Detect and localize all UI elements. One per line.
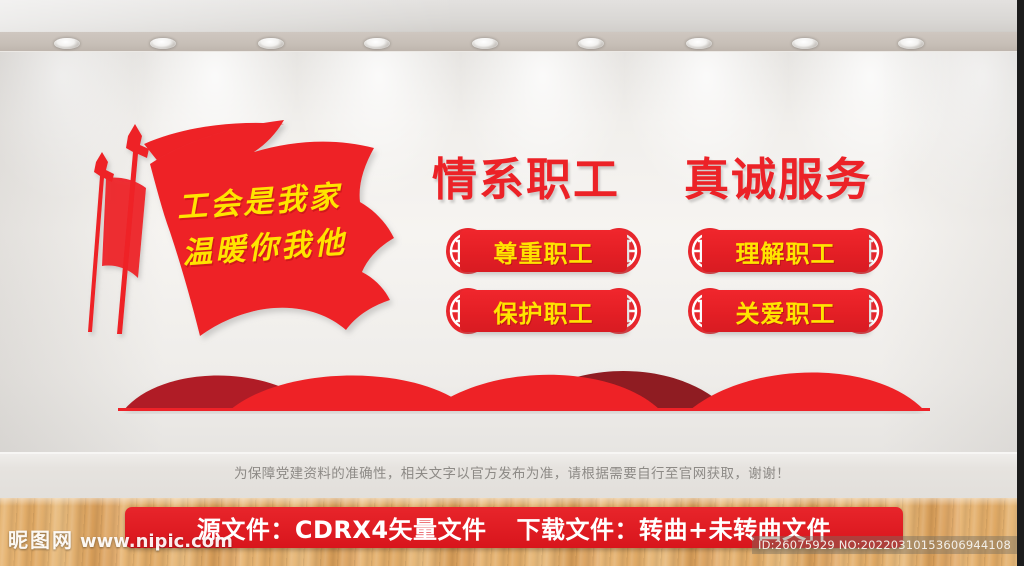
downlight-icon [578, 38, 604, 49]
flag-slogan: 工会是我家 温暖你我他 [143, 172, 379, 280]
downlight-icon [54, 38, 80, 49]
badge-respect-workers: 尊重职工 [446, 228, 641, 274]
screenshot-canvas: 工会是我家 温暖你我他 情系职工 真诚服务 尊重职工 [0, 0, 1024, 566]
downlight-icon [364, 38, 390, 49]
headline-right: 真诚服务 [684, 157, 872, 202]
headline-left: 情系职工 [432, 157, 620, 202]
downlight-icon [898, 38, 924, 49]
hills-decor-icon [0, 352, 1024, 414]
badge-bar: 理解职工 [702, 230, 869, 272]
downlight-icon [686, 38, 712, 49]
asset-id-strip: ID:26075929 NO:20220310153606944108 [752, 536, 1017, 554]
downlight-icon [258, 38, 284, 49]
watermark-site-url: www.nipic.com [80, 531, 233, 552]
badge-label: 保护职工 [494, 294, 594, 329]
downlight-icon [472, 38, 498, 49]
union-flag-graphic: 工会是我家 温暖你我他 [88, 118, 408, 348]
badge-protect-workers: 保护职工 [446, 288, 641, 334]
flag-slogan-line1: 工会是我家 [176, 179, 343, 225]
source-file-label: 源文件：CDRX4矢量文件 [197, 510, 487, 545]
badge-understand-workers: 理解职工 [688, 228, 883, 274]
disclaimer-text: 为保障党建资料的准确性，相关文字以官方发布为准，请根据需要自行至官网获取，谢谢！ [0, 462, 1024, 482]
badge-bar: 关爱职工 [702, 290, 869, 332]
site-watermark: 昵图网 www.nipic.com [8, 524, 233, 553]
downlight-icon [792, 38, 818, 49]
badge-bar: 尊重职工 [460, 230, 627, 272]
badge-care-workers: 关爱职工 [688, 288, 883, 334]
badge-label: 理解职工 [736, 234, 836, 269]
downlight-icon [150, 38, 176, 49]
right-frame-border [1017, 0, 1024, 566]
badge-label: 关爱职工 [736, 294, 836, 329]
badge-bar: 保护职工 [460, 290, 627, 332]
badge-label: 尊重职工 [494, 234, 594, 269]
watermark-site-name: 昵图网 [8, 524, 74, 553]
